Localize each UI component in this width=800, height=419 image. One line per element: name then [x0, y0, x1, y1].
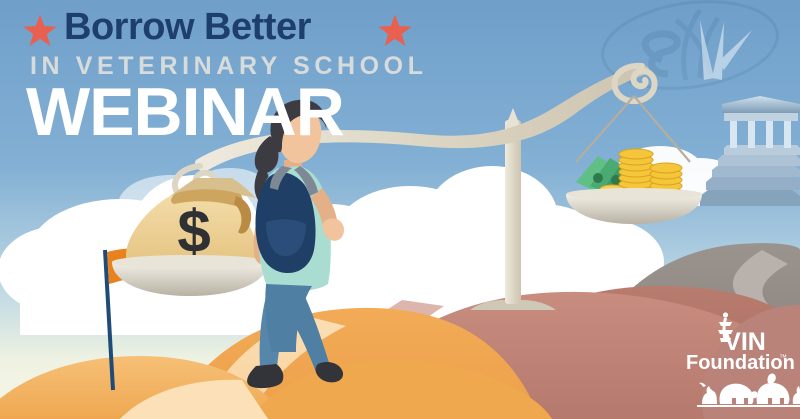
logo-animal-silhouettes — [697, 374, 800, 407]
logo-graphics — [0, 0, 800, 419]
vin-caduceus-icon — [718, 312, 733, 342]
webinar-promo-banner: $ — [0, 0, 800, 419]
